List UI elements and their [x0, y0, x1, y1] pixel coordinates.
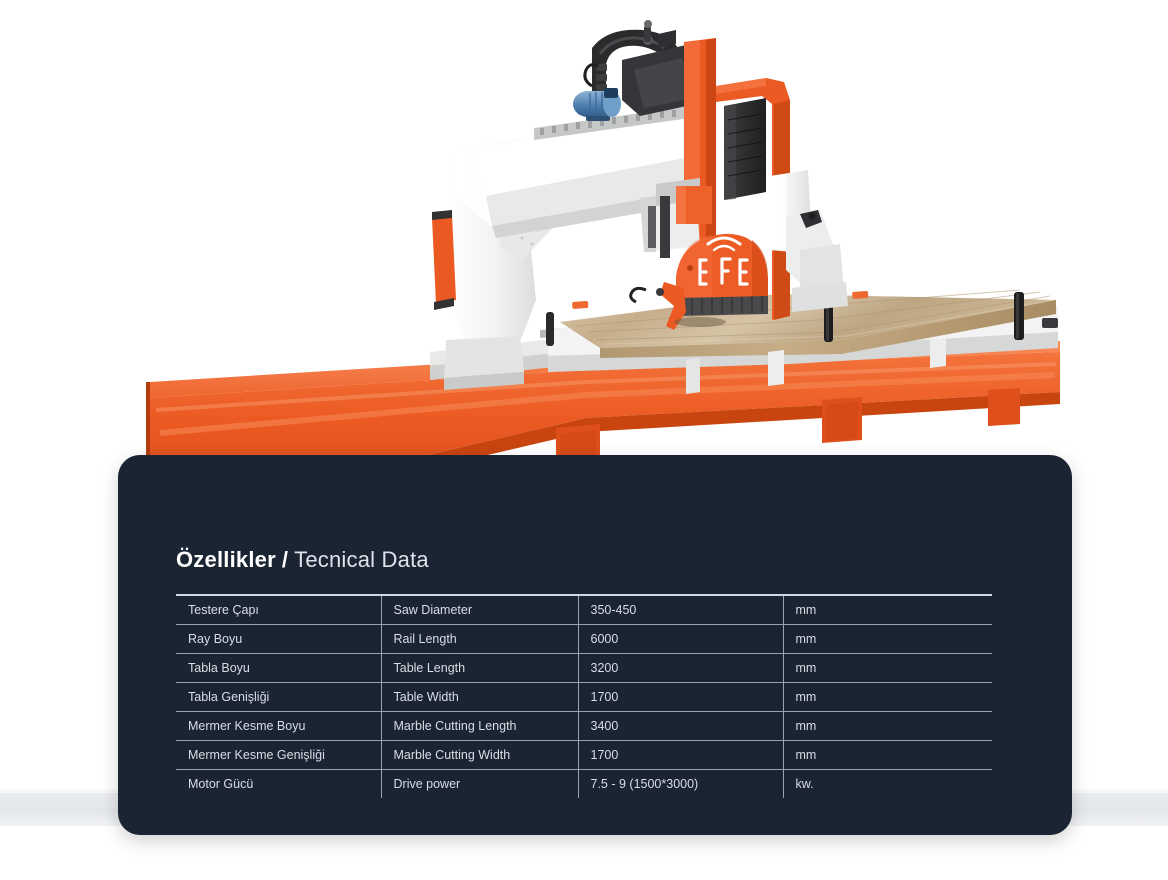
cell-unit: mm	[783, 683, 992, 712]
cell-value: 1700	[578, 683, 783, 712]
cell-name-en: Marble Cutting Width	[381, 741, 578, 770]
technical-data-panel: Özellikler / Tecnical Data Testere Çapı …	[118, 455, 1072, 835]
cell-value: 6000	[578, 625, 783, 654]
cell-name-en: Marble Cutting Length	[381, 712, 578, 741]
panel-heading: Özellikler / Tecnical Data	[176, 547, 994, 573]
table-row: Ray Boyu Rail Length 6000 mm	[176, 625, 992, 654]
cell-name-tr: Motor Gücü	[176, 770, 381, 799]
table-row: Tabla Genişliği Table Width 1700 mm	[176, 683, 992, 712]
heading-turkish: Özellikler	[176, 547, 276, 573]
cell-name-tr: Ray Boyu	[176, 625, 381, 654]
heading-english: Tecnical Data	[294, 547, 429, 573]
cell-unit: kw.	[783, 770, 992, 799]
cell-unit: mm	[783, 741, 992, 770]
cell-name-tr: Tabla Genişliği	[176, 683, 381, 712]
cell-value: 3400	[578, 712, 783, 741]
cell-name-en: Rail Length	[381, 625, 578, 654]
cell-value: 350-450	[578, 595, 783, 625]
spec-table: Testere Çapı Saw Diameter 350-450 mm Ray…	[176, 591, 992, 798]
table-row: Mermer Kesme Boyu Marble Cutting Length …	[176, 712, 992, 741]
cell-name-tr: Tabla Boyu	[176, 654, 381, 683]
cell-unit: mm	[783, 712, 992, 741]
cell-name-en: Table Length	[381, 654, 578, 683]
cell-name-tr: Mermer Kesme Boyu	[176, 712, 381, 741]
control-box	[724, 98, 766, 200]
electric-motor	[573, 88, 621, 121]
cell-name-en: Drive power	[381, 770, 578, 799]
cell-name-tr: Testere Çapı	[176, 595, 381, 625]
cell-unit: mm	[783, 625, 992, 654]
right-end-fitting	[1042, 318, 1058, 328]
cell-value: 3200	[578, 654, 783, 683]
table-row: Mermer Kesme Genişliği Marble Cutting Wi…	[176, 741, 992, 770]
cell-name-en: Saw Diameter	[381, 595, 578, 625]
cell-value: 1700	[578, 741, 783, 770]
table-row: Testere Çapı Saw Diameter 350-450 mm	[176, 595, 992, 625]
cell-name-tr: Mermer Kesme Genişliği	[176, 741, 381, 770]
page-root: Özellikler / Tecnical Data Testere Çapı …	[0, 0, 1168, 880]
heading-separator: /	[276, 547, 294, 573]
cell-name-en: Table Width	[381, 683, 578, 712]
cell-value: 7.5 - 9 (1500*3000)	[578, 770, 783, 799]
spec-table-body: Testere Çapı Saw Diameter 350-450 mm Ray…	[176, 591, 992, 798]
cell-unit: mm	[783, 595, 992, 625]
table-row: Motor Gücü Drive power 7.5 - 9 (1500*300…	[176, 770, 992, 799]
cell-unit: mm	[783, 654, 992, 683]
table-row: Tabla Boyu Table Length 3200 mm	[176, 654, 992, 683]
